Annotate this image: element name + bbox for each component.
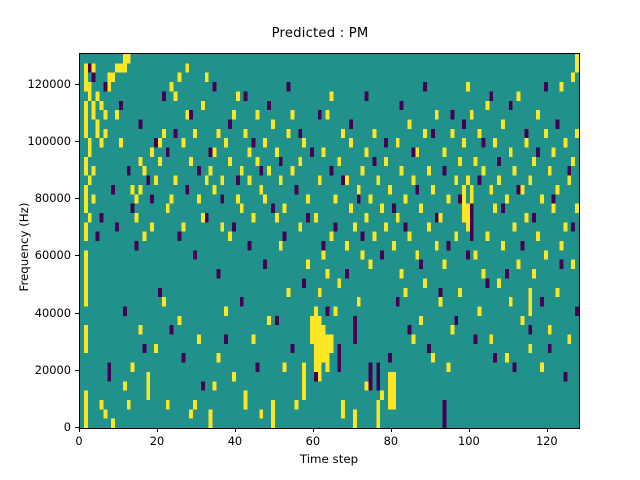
y-tick-label: 100000 bbox=[0, 134, 71, 148]
y-tick-mark bbox=[75, 370, 79, 371]
heatmap-plot-area[interactable] bbox=[79, 53, 580, 429]
x-tick-label: 60 bbox=[306, 434, 321, 448]
x-tick-mark bbox=[469, 428, 470, 432]
y-tick-label: 60000 bbox=[0, 248, 71, 262]
y-tick-label: 0 bbox=[0, 420, 71, 434]
x-tick-mark bbox=[313, 428, 314, 432]
y-tick-mark bbox=[75, 198, 79, 199]
y-tick-label: 40000 bbox=[0, 306, 71, 320]
y-tick-label: 120000 bbox=[0, 77, 71, 91]
y-tick-mark bbox=[75, 427, 79, 428]
x-tick-mark bbox=[547, 428, 548, 432]
x-axis-label: Time step bbox=[79, 452, 579, 466]
x-tick-label: 0 bbox=[75, 434, 82, 448]
matplotlib-figure: Predicted : PM 0204060801001200200004000… bbox=[0, 0, 640, 480]
page-title: Predicted : PM bbox=[0, 26, 640, 41]
y-axis-label: Frequency (Hz) bbox=[17, 177, 31, 317]
y-tick-mark bbox=[75, 84, 79, 85]
y-tick-mark bbox=[75, 141, 79, 142]
x-tick-label: 40 bbox=[228, 434, 243, 448]
x-tick-label: 100 bbox=[458, 434, 480, 448]
x-tick-mark bbox=[79, 428, 80, 432]
y-tick-mark bbox=[75, 313, 79, 314]
x-tick-mark bbox=[235, 428, 236, 432]
x-tick-label: 20 bbox=[150, 434, 165, 448]
spectrogram-heatmap[interactable] bbox=[80, 54, 579, 428]
y-tick-mark bbox=[75, 255, 79, 256]
x-tick-mark bbox=[157, 428, 158, 432]
x-tick-mark bbox=[391, 428, 392, 432]
x-tick-label: 80 bbox=[384, 434, 399, 448]
y-tick-label: 80000 bbox=[0, 191, 71, 205]
y-tick-label: 20000 bbox=[0, 363, 71, 377]
x-tick-label: 120 bbox=[536, 434, 558, 448]
